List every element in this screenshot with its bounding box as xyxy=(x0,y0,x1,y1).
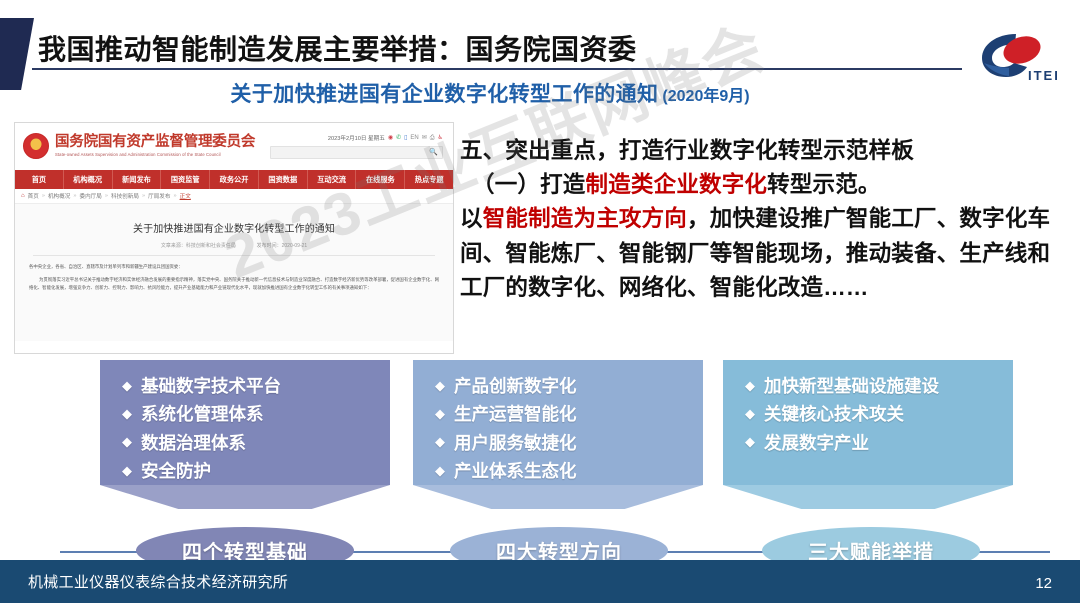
subtitle-block: 关于加快推进国有企业数字化转型工作的通知(2020年9月) xyxy=(0,78,980,108)
funnel-connector-2 xyxy=(413,485,703,509)
diamond-bullet-icon: ◆ xyxy=(122,464,132,477)
box-transformation-directions: ◆产品创新数字化 ◆生产运营智能化 ◆用户服务敏捷化 ◆产业体系生态化 xyxy=(413,360,703,485)
list-item: ◆关键核心技术攻关 xyxy=(745,400,1013,428)
mobile-icon[interactable]: ▯ xyxy=(404,135,407,141)
breadcrumb-item-4[interactable]: 厅局发布 xyxy=(148,192,170,200)
nav-item-7[interactable]: 在线服务 xyxy=(356,170,405,189)
breadcrumb-separator: » xyxy=(42,193,45,199)
nav-item-0[interactable]: 首页 xyxy=(15,170,64,189)
print-icon[interactable]: ⎙ xyxy=(430,135,435,141)
list-item-label: 安全防护 xyxy=(141,457,211,485)
diamond-bullet-icon: ◆ xyxy=(745,435,755,448)
subtitle-text: 关于加快推进国有企业数字化转型工作的通知 xyxy=(230,83,658,106)
list-item-label: 发展数字产业 xyxy=(764,429,869,457)
list-item: ◆生产运营智能化 xyxy=(435,400,703,428)
nav-item-2[interactable]: 新闻发布 xyxy=(113,170,162,189)
list-item-label: 关键核心技术攻关 xyxy=(764,400,904,428)
article-paragraph-1: 各中央企业，各省、自治区、直辖市及计划单列市和新疆生产建设兵团国资委： xyxy=(29,263,439,271)
diamond-bullet-icon: ◆ xyxy=(122,435,132,448)
article-meta: 文章来源：科技创新和社会责任局 发布时间：2020-09-21 xyxy=(29,242,439,249)
website-title-english: State-owned Assets Supervision and Admin… xyxy=(55,152,255,158)
diamond-bullet-icon: ◆ xyxy=(745,379,755,392)
nav-item-6[interactable]: 互动交流 xyxy=(308,170,357,189)
website-nav: 首页 机构概况 新闻发布 国资监管 政务公开 国资数据 互动交流 在线服务 热点… xyxy=(15,169,453,189)
policy-detail-highlight: 智能制造为主攻方向 xyxy=(483,206,687,231)
transformation-boxes: ◆基础数字技术平台 ◆系统化管理体系 ◆数据治理体系 ◆安全防护 ◆产品创新数字… xyxy=(0,360,1080,510)
search-icon[interactable]: 🔍 xyxy=(429,148,438,156)
breadcrumb-item-2[interactable]: 委内厅局 xyxy=(79,192,101,200)
policy-text-block: 五、突出重点，打造行业数字化转型示范样板 （一）打造制造类企业数字化转型示范。 … xyxy=(460,134,1070,305)
diamond-bullet-icon: ◆ xyxy=(122,379,132,392)
breadcrumb-item-3[interactable]: 科技创新局 xyxy=(111,192,139,200)
subtitle-date: (2020年9月) xyxy=(662,88,749,105)
box1-item-list: ◆基础数字技术平台 ◆系统化管理体系 ◆数据治理体系 ◆安全防护 xyxy=(100,372,390,485)
list-item-label: 基础数字技术平台 xyxy=(141,372,281,400)
policy-sub-prefix: （一）打造 xyxy=(472,172,586,197)
diamond-bullet-icon: ◆ xyxy=(435,379,445,392)
footer-page-number: 12 xyxy=(1035,575,1052,592)
list-item: ◆加快新型基础设施建设 xyxy=(745,372,1013,400)
list-item-label: 数据治理体系 xyxy=(141,429,246,457)
slide-canvas: 我国推动智能制造发展主要举措：国务院国资委 关于加快推进国有企业数字化转型工作的… xyxy=(0,0,1080,603)
wechat-icon[interactable]: ✆ xyxy=(396,135,401,141)
list-item: ◆产品创新数字化 xyxy=(435,372,703,400)
website-header: 国务院国有资产监督管理委员会 State-owned Assets Superv… xyxy=(15,123,453,169)
list-item: ◆发展数字产业 xyxy=(745,429,1013,457)
list-item-label: 加快新型基础设施建设 xyxy=(764,372,939,400)
list-item: ◆数据治理体系 xyxy=(122,429,390,457)
list-item: ◆系统化管理体系 xyxy=(122,400,390,428)
list-item: ◆安全防护 xyxy=(122,457,390,485)
article-divider xyxy=(33,255,435,256)
accessibility-icon[interactable]: ♿ xyxy=(438,135,443,141)
policy-heading-line: 五、突出重点，打造行业数字化转型示范样板 xyxy=(460,134,1070,168)
mail-icon[interactable]: ✉ xyxy=(422,135,427,141)
weibo-icon[interactable]: ◉ xyxy=(388,135,393,141)
breadcrumb: ⌂ 首页 » 机构概况 » 委内厅局 » 科技创新局 » 厅局发布 » 正文 xyxy=(15,189,453,204)
breadcrumb-separator: » xyxy=(173,193,176,199)
breadcrumb-item-0[interactable]: 首页 xyxy=(28,192,39,200)
language-switch-link[interactable]: EN xyxy=(410,135,418,141)
funnel-connector-3 xyxy=(723,485,1013,509)
nav-item-8[interactable]: 热点专题 xyxy=(405,170,453,189)
breadcrumb-separator: » xyxy=(73,193,76,199)
breadcrumb-separator: » xyxy=(105,193,108,199)
list-item-label: 生产运营智能化 xyxy=(454,400,577,428)
list-item: ◆产业体系生态化 xyxy=(435,457,703,485)
home-icon: ⌂ xyxy=(21,193,25,199)
diamond-bullet-icon: ◆ xyxy=(745,407,755,420)
list-item-label: 系统化管理体系 xyxy=(141,400,264,428)
policy-sub-highlight: 制造类企业数字化 xyxy=(586,172,768,197)
itei-logo-icon: ITEI xyxy=(970,28,1062,86)
policy-subheading-line: （一）打造制造类企业数字化转型示范。 xyxy=(460,168,1070,202)
article-publish-time: 发布时间：2020-09-21 xyxy=(257,243,308,249)
national-emblem-icon xyxy=(23,133,49,159)
gov-website-screenshot: 国务院国有资产监督管理委员会 State-owned Assets Superv… xyxy=(14,122,454,354)
footer-organization: 机械工业仪器仪表综合技术经济研究所 xyxy=(28,571,288,592)
policy-sub-suffix: 转型示范。 xyxy=(767,172,881,197)
diamond-bullet-icon: ◆ xyxy=(435,407,445,420)
article-source: 文章来源：科技创新和社会责任局 xyxy=(161,243,236,249)
box3-item-list: ◆加快新型基础设施建设 ◆关键核心技术攻关 ◆发展数字产业 xyxy=(723,372,1013,457)
website-header-right: 2023年2月10日 星期五 ◉ ✆ ▯ EN ✉ ⎙ ♿ 🔍 xyxy=(270,134,445,159)
breadcrumb-item-5: 正文 xyxy=(180,192,191,200)
page-title: 我国推动智能制造发展主要举措：国务院国资委 xyxy=(38,28,637,68)
nav-item-4[interactable]: 政务公开 xyxy=(210,170,259,189)
itei-logo: ITEI xyxy=(970,28,1062,86)
list-item-label: 产业体系生态化 xyxy=(454,457,577,485)
diamond-bullet-icon: ◆ xyxy=(122,407,132,420)
list-item: ◆用户服务敏捷化 xyxy=(435,429,703,457)
breadcrumb-item-1[interactable]: 机构概况 xyxy=(48,192,70,200)
box-enabling-measures: ◆加快新型基础设施建设 ◆关键核心技术攻关 ◆发展数字产业 xyxy=(723,360,1013,485)
funnel-connector-1 xyxy=(100,485,390,509)
list-item: ◆基础数字技术平台 xyxy=(122,372,390,400)
title-divider xyxy=(32,68,962,70)
policy-detail-paragraph: 以智能制造为主攻方向，加快建设推广智能工厂、数字化车间、智能炼厂、智能钢厂等智能… xyxy=(460,202,1070,305)
website-title: 国务院国有资产监督管理委员会 xyxy=(55,135,255,150)
diamond-bullet-icon: ◆ xyxy=(435,464,445,477)
policy-detail-prefix: 以 xyxy=(460,206,483,231)
website-title-block: 国务院国有资产监督管理委员会 State-owned Assets Superv… xyxy=(55,135,255,157)
box-transformation-foundations: ◆基础数字技术平台 ◆系统化管理体系 ◆数据治理体系 ◆安全防护 xyxy=(100,360,390,485)
nav-item-3[interactable]: 国资监管 xyxy=(161,170,210,189)
article-paragraph-2: 为贯彻落实习近平总书记关于推动数字经济和实体经济融合发展的重要指示精神，落实党中… xyxy=(29,276,439,292)
box2-item-list: ◆产品创新数字化 ◆生产运营智能化 ◆用户服务敏捷化 ◆产业体系生态化 xyxy=(413,372,703,485)
itei-logo-text: ITEI xyxy=(1028,68,1060,83)
nav-item-5[interactable]: 国资数据 xyxy=(259,170,308,189)
website-date-row: 2023年2月10日 星期五 ◉ ✆ ▯ EN ✉ ⎙ ♿ xyxy=(270,134,443,142)
list-item-label: 用户服务敏捷化 xyxy=(454,429,577,457)
website-date: 2023年2月10日 星期五 xyxy=(328,134,385,142)
list-item-label: 产品创新数字化 xyxy=(454,372,577,400)
breadcrumb-separator: » xyxy=(142,193,145,199)
article-title: 关于加快推进国有企业数字化转型工作的通知 xyxy=(29,220,439,235)
article-body: 关于加快推进国有企业数字化转型工作的通知 文章来源：科技创新和社会责任局 发布时… xyxy=(15,204,453,341)
diamond-bullet-icon: ◆ xyxy=(435,435,445,448)
nav-item-1[interactable]: 机构概况 xyxy=(64,170,113,189)
search-input[interactable]: 🔍 xyxy=(270,146,443,159)
